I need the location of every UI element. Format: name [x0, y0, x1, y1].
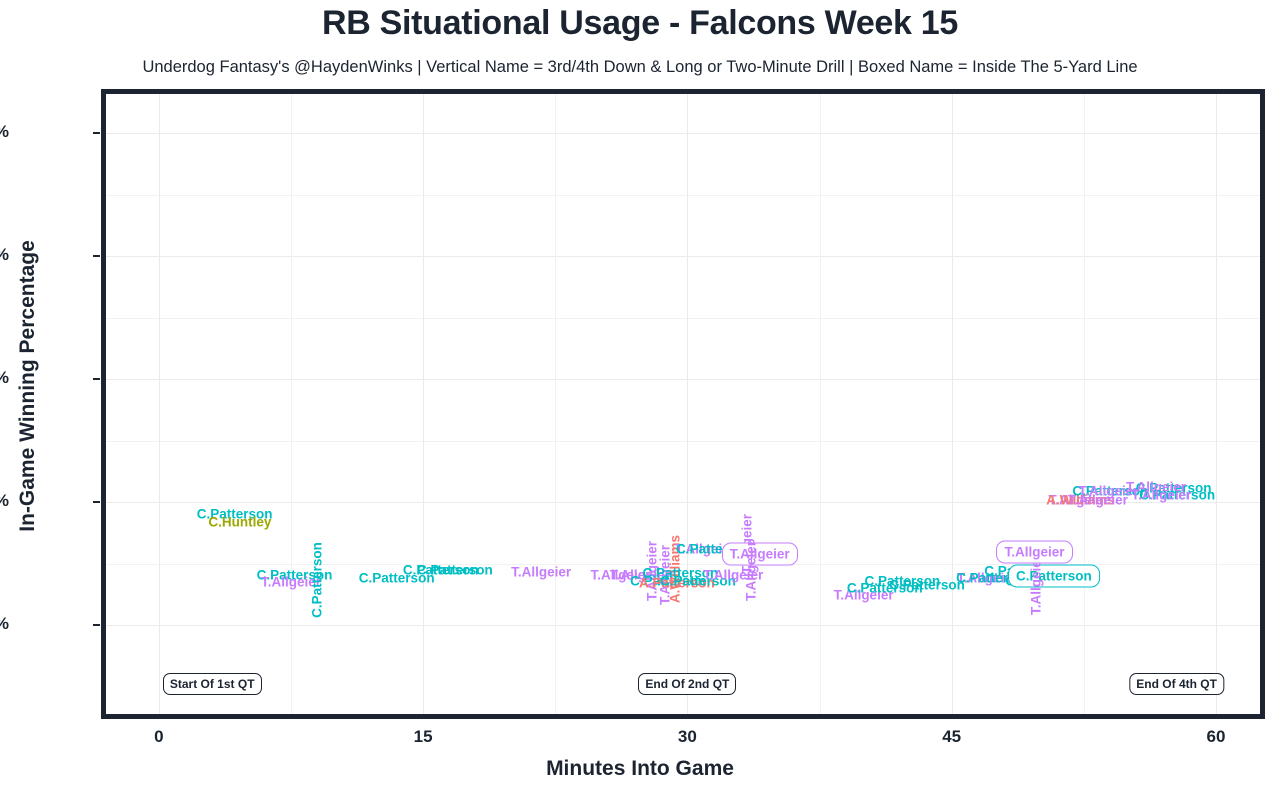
gridline-h [106, 133, 1260, 134]
x-tick-label: 60 [1156, 727, 1276, 747]
player-label: C.Patterson [1008, 564, 1100, 587]
player-label: T.Allgeier [996, 540, 1072, 563]
quarter-annotation: End Of 2nd QT [638, 673, 736, 695]
chart-subtitle: Underdog Fantasy's @HaydenWinks | Vertic… [0, 58, 1280, 77]
plot-area: C.PattersonC.HuntleyC.PattersonT.Allgeie… [106, 94, 1260, 714]
y-tick-mark [93, 255, 100, 257]
player-label: T.Allgeier [511, 565, 571, 580]
gridline-v [687, 94, 688, 714]
gridline-h [106, 379, 1260, 380]
player-label: C.Patterson [310, 542, 325, 618]
gridline-v-minor [291, 94, 292, 714]
chart-root: RB Situational Usage - Falcons Week 15 U… [0, 0, 1280, 797]
gridline-v [159, 94, 160, 714]
gridline-h [106, 256, 1260, 257]
y-tick-mark [93, 132, 100, 134]
y-tick-mark [93, 501, 100, 503]
gridline-h-minor [106, 441, 1260, 442]
gridline-v-minor [1084, 94, 1085, 714]
gridline-v [423, 94, 424, 714]
quarter-annotation: End Of 4th QT [1129, 673, 1224, 695]
y-tick-label: 75% [0, 245, 9, 265]
y-tick-label: 100% [0, 122, 9, 142]
gridline-h-minor [106, 318, 1260, 319]
y-tick-label: 50% [0, 368, 9, 388]
x-axis-title: Minutes Into Game [0, 757, 1280, 781]
x-tick-label: 45 [892, 727, 1012, 747]
player-label: C.Patterson [417, 563, 493, 578]
gridline-v [952, 94, 953, 714]
chart-title: RB Situational Usage - Falcons Week 15 [0, 4, 1280, 43]
plot-panel: C.PattersonC.HuntleyC.PattersonT.Allgeie… [101, 89, 1265, 719]
player-label: T.Allgeier [1029, 555, 1044, 615]
player-label: T.Allgeier [722, 542, 798, 565]
player-label: C.Huntley [208, 514, 271, 529]
y-tick-label: 0% [0, 614, 9, 634]
player-label: T.Allgeier [743, 541, 758, 601]
player-label: T.Allgeier [1131, 488, 1191, 503]
y-axis-title: In-Game Winning Percentage [16, 146, 40, 626]
gridline-h-minor [106, 195, 1260, 196]
player-label: C.Patterson [889, 578, 965, 593]
x-tick-label: 30 [627, 727, 747, 747]
gridline-v-minor [555, 94, 556, 714]
gridline-v-minor [820, 94, 821, 714]
x-tick-label: 0 [99, 727, 219, 747]
quarter-annotation: Start Of 1st QT [163, 673, 262, 695]
y-tick-label: 25% [0, 491, 9, 511]
x-tick-label: 15 [363, 727, 483, 747]
y-tick-mark [93, 378, 100, 380]
y-tick-mark [93, 624, 100, 626]
gridline-h [106, 625, 1260, 626]
gridline-v [1216, 94, 1217, 714]
